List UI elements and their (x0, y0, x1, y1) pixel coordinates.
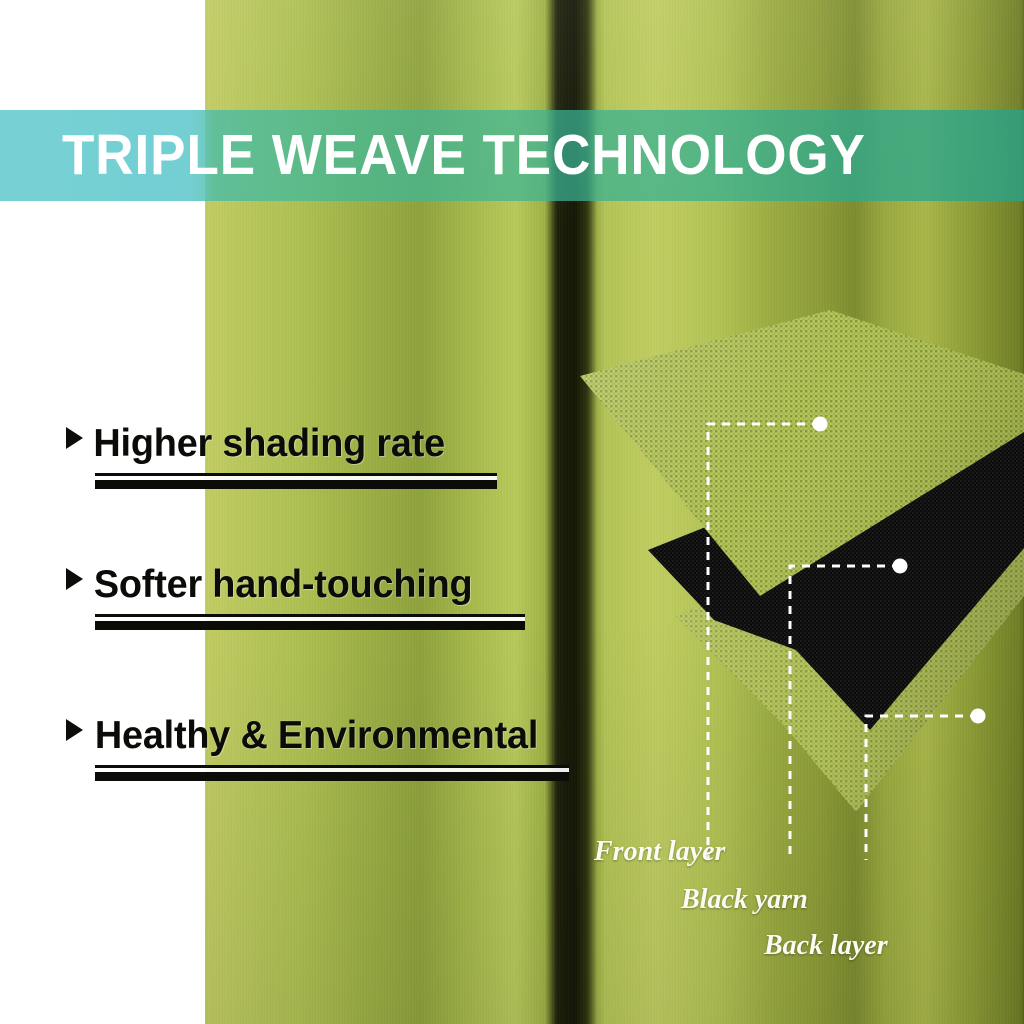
triangle-right-icon (66, 427, 83, 449)
feature-underline-2 (95, 614, 525, 630)
underline-thick-rule (95, 772, 569, 781)
page-title: TRIPLE WEAVE TECHNOLOGY (62, 127, 866, 184)
feature-item-3: Healthy & Environmental (66, 716, 569, 781)
underline-thick-rule (95, 480, 497, 489)
dot-marker-icon (813, 417, 828, 432)
callout-label-front-layer: Front layer (594, 836, 725, 868)
feature-label-1: Higher shading rate (93, 424, 445, 463)
feature-underline-1 (95, 473, 497, 489)
callout-label-black-yarn: Black yarn (681, 884, 808, 916)
feature-row-2: Softer hand-touching (66, 565, 525, 604)
underline-thick-rule (95, 621, 525, 630)
feature-item-2: Softer hand-touching (66, 565, 525, 630)
triangle-right-icon (66, 568, 83, 590)
triangle-right-icon (66, 719, 83, 741)
feature-row-1: Higher shading rate (66, 424, 497, 463)
product-feature-infographic: TRIPLE WEAVE TECHNOLOGY Higher shading r… (0, 0, 1024, 1024)
triple-weave-layer-diagram (560, 300, 1024, 860)
feature-row-3: Healthy & Environmental (66, 716, 569, 755)
dot-marker-icon (971, 709, 986, 724)
title-banner: TRIPLE WEAVE TECHNOLOGY (0, 110, 1024, 201)
feature-item-1: Higher shading rate (66, 424, 497, 489)
feature-underline-3 (95, 765, 569, 781)
feature-label-2: Softer hand-touching (94, 565, 473, 604)
dot-marker-icon (893, 559, 908, 574)
feature-label-3: Healthy & Environmental (95, 716, 538, 755)
callout-label-back-layer: Back layer (764, 930, 888, 962)
